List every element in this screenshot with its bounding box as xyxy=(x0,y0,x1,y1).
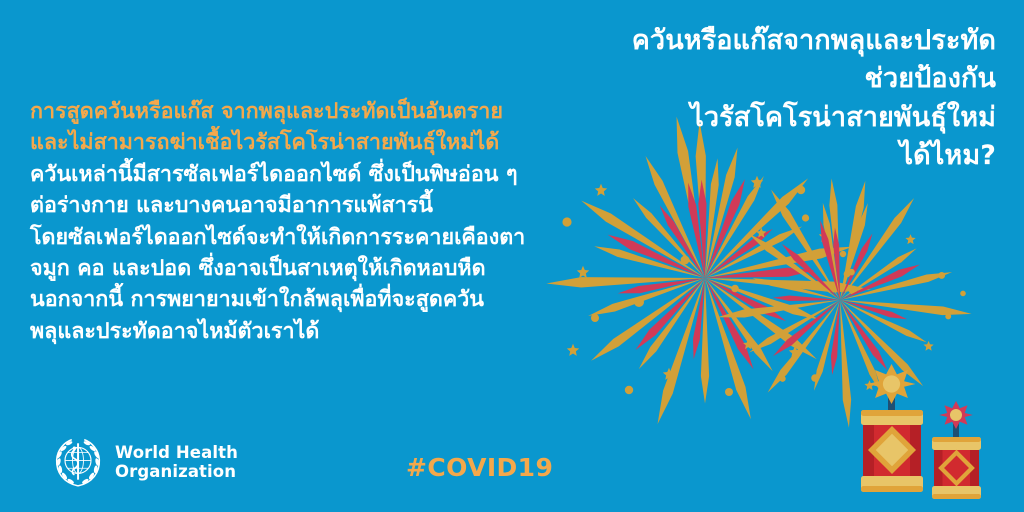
body-line-6: จมูก คอ และปอด ซึ่งอาจเป็นสาเหตุให้เกิดห… xyxy=(30,253,590,284)
body-copy: การสูดควันหรือแก๊ส จากพลุและประทัดเป็นอั… xyxy=(30,96,590,347)
headline-line-4: ได้ไหม? xyxy=(526,137,996,175)
firecracker-large xyxy=(861,364,923,492)
hashtag-covid19: #COVID19 xyxy=(406,453,553,482)
who-wordmark: World Health Organization xyxy=(115,443,238,481)
body-line-8: พลุและประทัดอาจไหม้ตัวเราได้ xyxy=(30,316,590,347)
body-line-5: โดยซัลเฟอร์ไดออกไซด์จะทำให้เกิดการระคายเ… xyxy=(30,222,590,253)
headline: ควันหรือแก๊สจากพลุและประทัด ช่วยป้องกัน … xyxy=(526,22,996,175)
body-line-3: ควันเหล่านี้มีสารซัลเฟอร์ไดออกไซด์ ซึ่งเ… xyxy=(30,159,590,190)
headline-line-3: ไวรัสโคโรน่าสายพันธุ์ใหม่ xyxy=(526,99,996,137)
headline-line-2: ช่วยป้องกัน xyxy=(526,60,996,98)
body-line-7: นอกจากนี้ การพยายามเข้าใกล้พลุเพื่อที่จะ… xyxy=(30,284,590,315)
who-wordmark-line-1: World Health xyxy=(115,443,238,462)
headline-line-1: ควันหรือแก๊สจากพลุและประทัด xyxy=(526,22,996,60)
firework-burst-right xyxy=(717,178,972,428)
who-logo: World Health Organization xyxy=(52,436,238,488)
who-emblem-icon xyxy=(52,436,104,488)
poster-canvas: ควันหรือแก๊สจากพลุและประทัด ช่วยป้องกัน … xyxy=(0,0,1024,512)
body-line-4: ต่อร่างกาย และบางคนอาจมีอาการแพ้สารนี้ xyxy=(30,190,590,221)
body-line-2: และไม่สามารถฆ่าเชื้อไวรัสโคโรน่าสายพันธุ… xyxy=(30,127,590,158)
body-line-1: การสูดควันหรือแก๊ส จากพลุและประทัดเป็นอั… xyxy=(30,96,590,127)
who-wordmark-line-2: Organization xyxy=(115,462,238,481)
firecracker-small xyxy=(932,401,981,499)
